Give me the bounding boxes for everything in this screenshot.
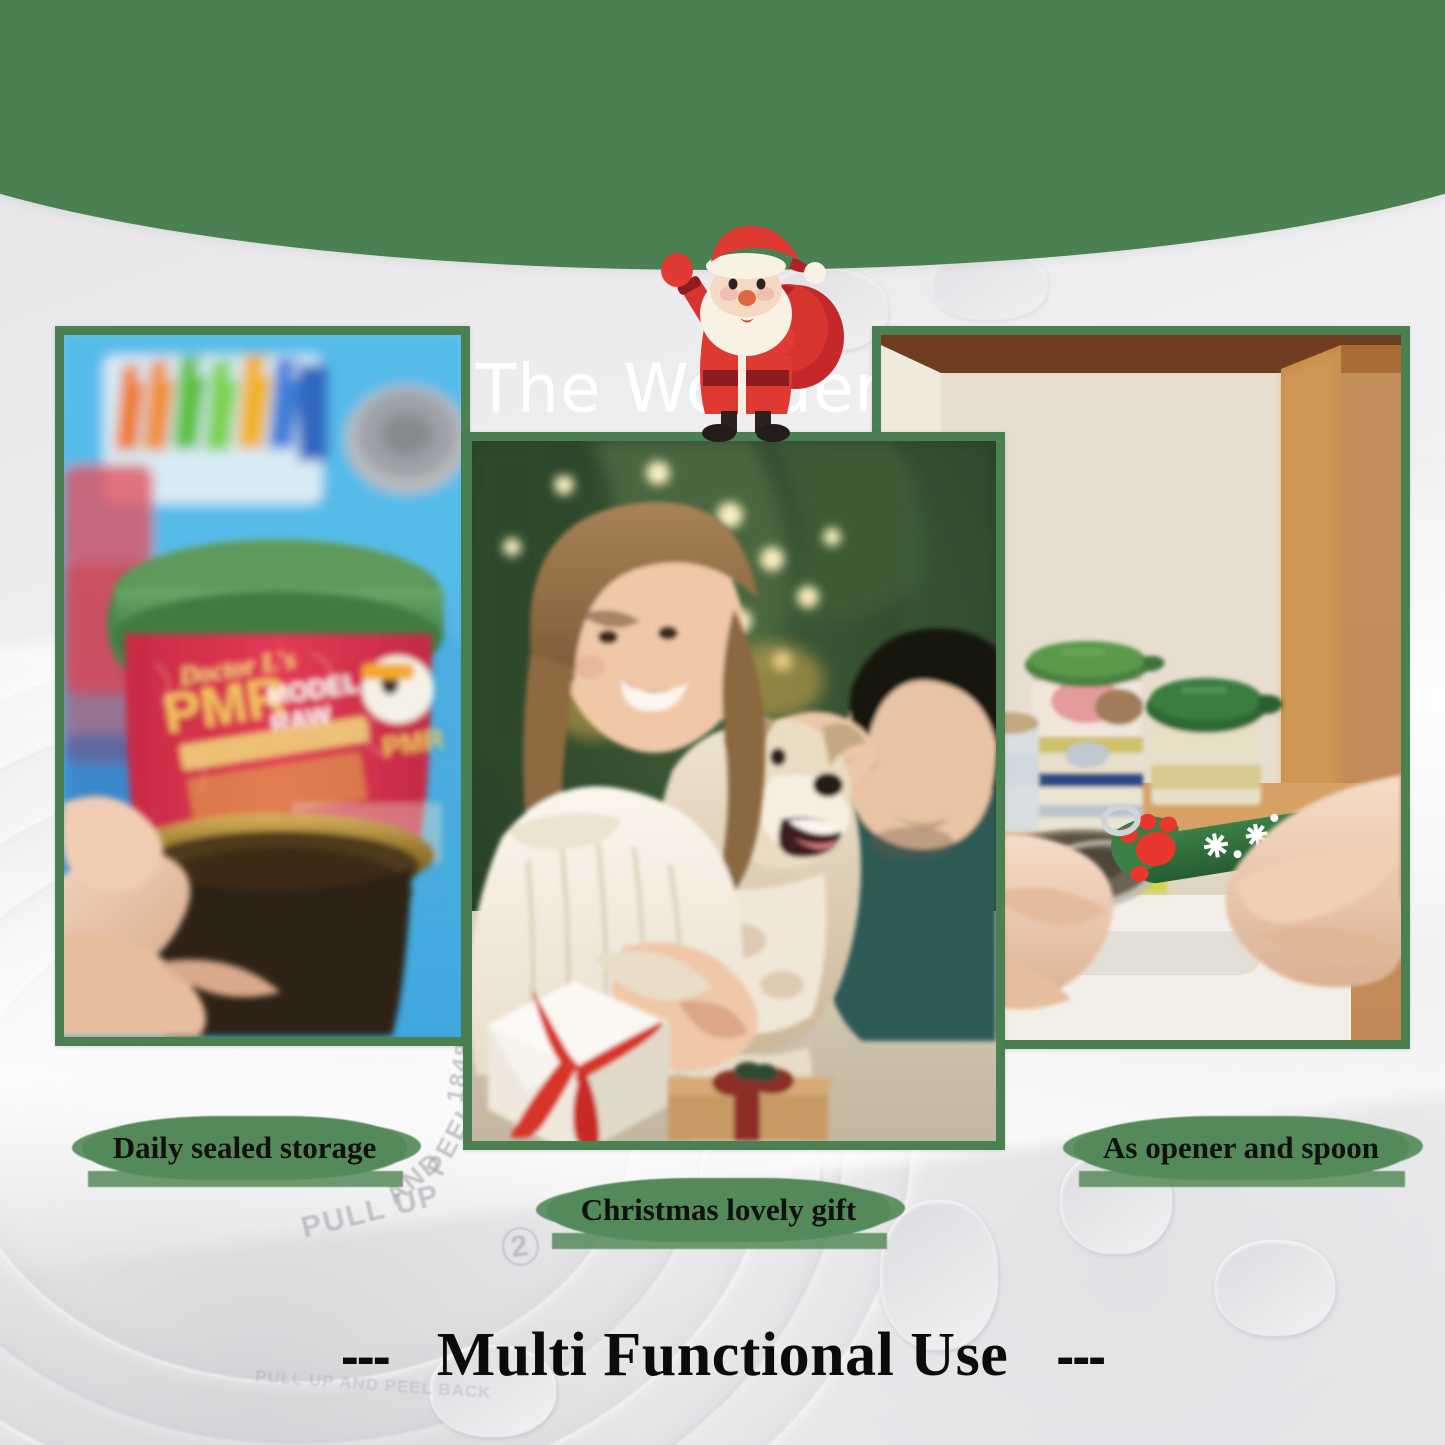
caption-label: As opener and spoon bbox=[1103, 1130, 1379, 1166]
poster-canvas: PULL UP AND PEEL B 1848 2 PULL UP AND PE… bbox=[0, 0, 1445, 1445]
photo-panel-christmas-lovely-gift bbox=[463, 432, 1005, 1150]
caption-label: Daily sealed storage bbox=[113, 1130, 376, 1166]
photo-sealed-storage: Doctor L's PMR MODEL RAW PMR bbox=[64, 335, 461, 1037]
footer-tagline: --- Multi Functional Use --- bbox=[0, 1320, 1445, 1391]
caption-daily-sealed-storage: Daily sealed storage bbox=[82, 1116, 407, 1180]
caption-christmas-lovely-gift: Christmas lovely gift bbox=[546, 1178, 891, 1242]
photo-panel-daily-sealed-storage: Doctor L's PMR MODEL RAW PMR bbox=[55, 326, 470, 1046]
caption-label: Christmas lovely gift bbox=[581, 1192, 857, 1228]
photo-christmas-gift bbox=[472, 441, 996, 1141]
footer-text: Multi Functional Use bbox=[437, 1321, 1008, 1389]
santa-claus-icon bbox=[641, 222, 866, 442]
caption-as-opener-and-spoon: As opener and spoon bbox=[1073, 1116, 1409, 1180]
background-embossed-text: 2 bbox=[499, 1225, 541, 1269]
footer-dash-left: --- bbox=[341, 1327, 389, 1387]
footer-dash-right: --- bbox=[1056, 1327, 1104, 1387]
